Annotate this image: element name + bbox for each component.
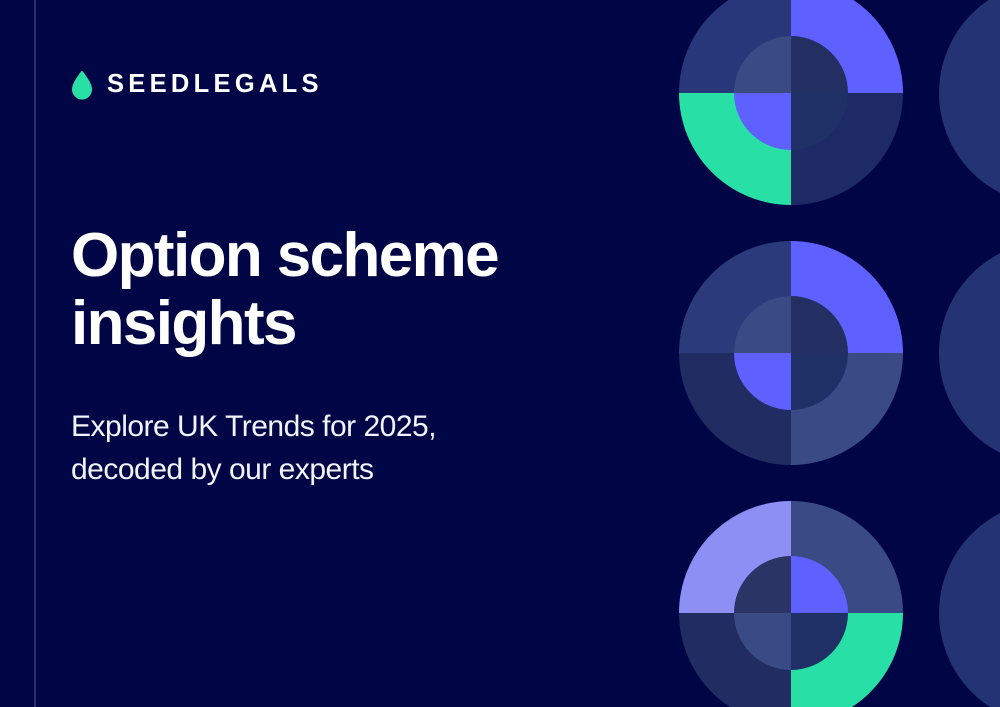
ring-1-inner-bottom-left [734, 93, 791, 150]
left-vertical-rule [34, 0, 36, 707]
ring-3-inner-top-left [734, 556, 791, 613]
cover-slide: SEEDLEGALS Option scheme insights Explor… [0, 0, 1000, 707]
ring-5 [939, 241, 1000, 465]
ring-3-outer-bottom-right [791, 613, 903, 707]
ring-3-outer-top-left [679, 501, 791, 613]
ring-2-inner-bottom-right [791, 353, 848, 410]
ring-3-inner-bottom-right [791, 613, 848, 670]
ring-2-outer-bottom-left [679, 353, 791, 465]
ring-2-inner-bottom-left [734, 353, 791, 410]
ring-6 [939, 501, 1000, 707]
ring-3-outer-bottom-left [679, 613, 791, 707]
ring-2-outer-top-left [679, 241, 791, 353]
ring-2-inner-top-right [791, 296, 848, 353]
ring-2-inner-top-left [734, 296, 791, 353]
cover-content: SEEDLEGALS Option scheme insights Explor… [71, 0, 631, 707]
ring-1 [679, 0, 903, 205]
ring-2-outer-top-right [791, 241, 903, 353]
brand-wordmark: SEEDLEGALS [107, 72, 323, 98]
ring-3 [679, 501, 903, 707]
ring-1-inner-bottom-right [791, 93, 848, 150]
ring-3-inner-top-right [791, 556, 848, 613]
ring-1-outer-bottom-right [791, 93, 903, 205]
ring-1-outer-bottom-left [679, 93, 791, 205]
ring-2-outer-bottom-right [791, 353, 903, 465]
ring-1-inner-top-right [791, 36, 848, 93]
pattern-right-column [939, 0, 1000, 707]
ring-1-inner-top-left [734, 36, 791, 93]
ring-1-outer-top-left [679, 0, 791, 93]
ring-1-outer-top-right [791, 0, 903, 93]
ring-3-outer-top-right [791, 501, 903, 613]
page-title: Option scheme insights [71, 222, 601, 357]
seedlegals-drop-logo-icon [71, 70, 93, 100]
brand-logo: SEEDLEGALS [71, 70, 323, 100]
ring-2 [679, 241, 903, 465]
ring-3-inner-bottom-left [734, 613, 791, 670]
ring-4 [939, 0, 1000, 205]
page-subtitle: Explore UK Trends for 2025, decoded by o… [71, 406, 541, 492]
